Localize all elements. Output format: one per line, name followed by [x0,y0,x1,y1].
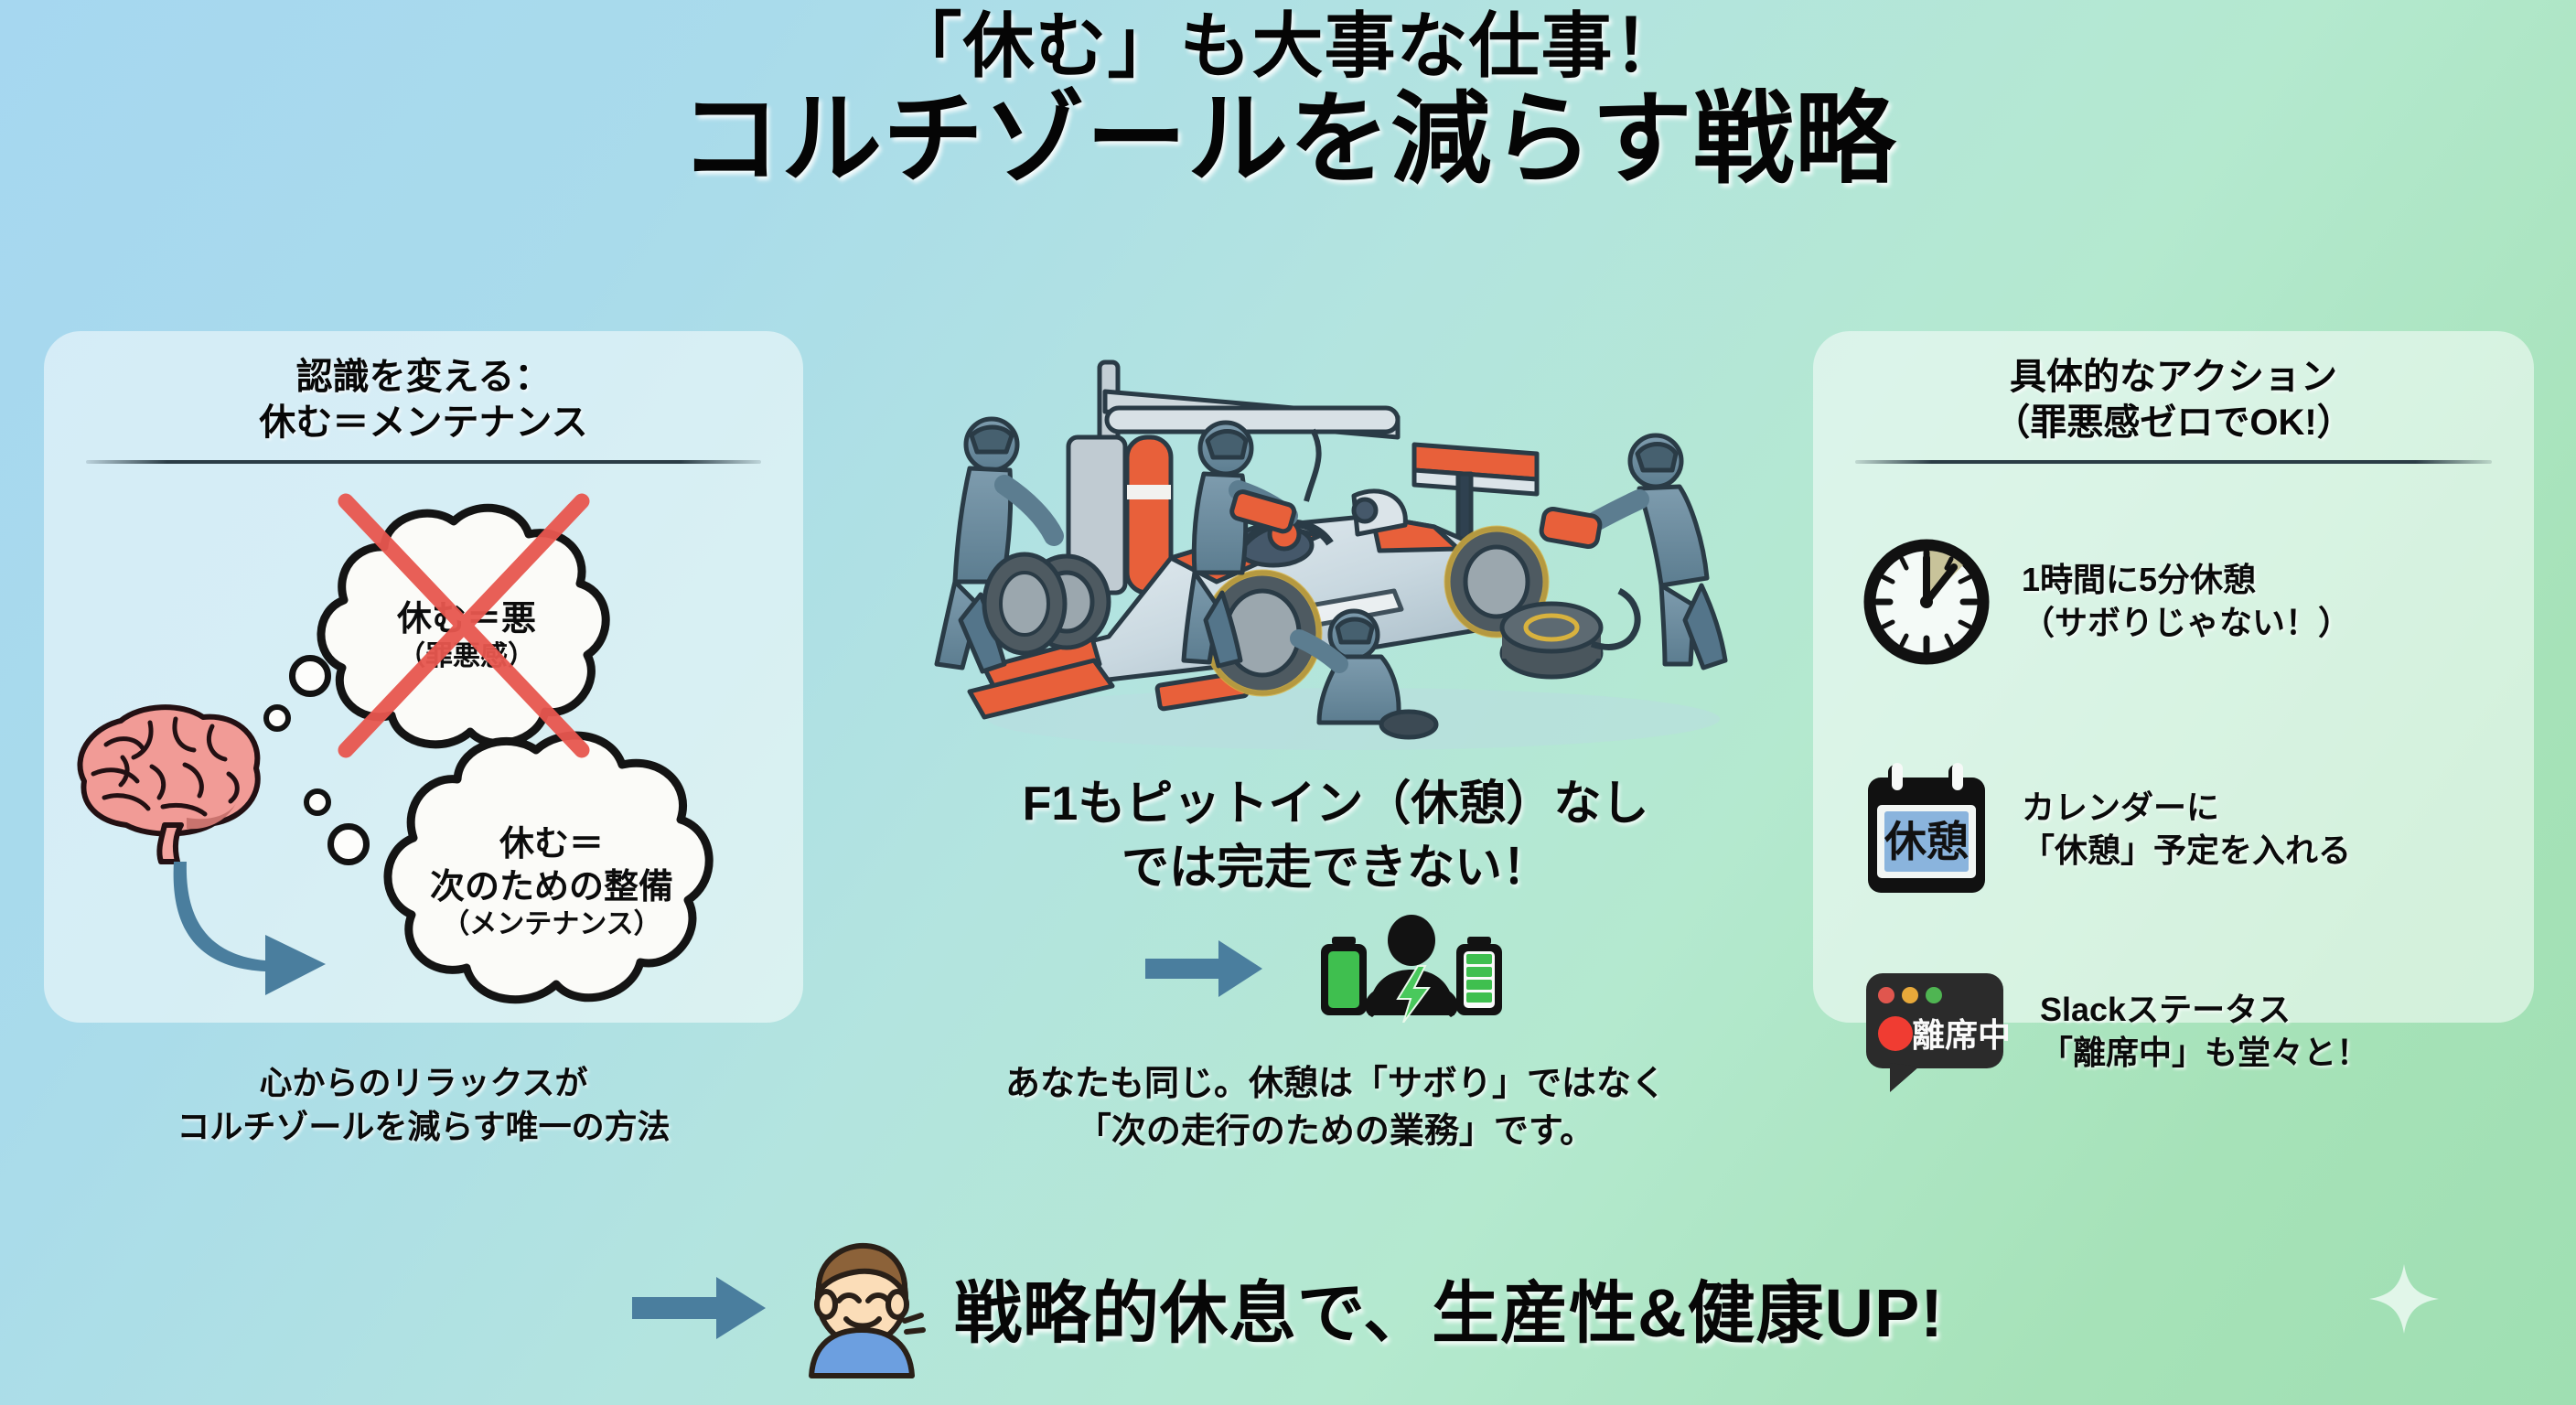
action-3-text: Slackステータス 「離席中」も堂々と！ [2040,989,2369,1075]
smiling-person-avatar [793,1237,930,1378]
page-title: 「休む」も大事な仕事！ コルチゾールを減らす戦略 [0,7,2576,195]
red-cross-mark-icon [274,476,659,787]
center-caption-line-1: あなたも同じ。休憩は「サボり」ではなく [832,1061,1839,1109]
action-item-hourly-break[interactable]: 1時間に5分休憩 （サボりじゃない！） [1862,538,2351,666]
right-panel-heading-line-2: （罪悪感ゼロでOK!） [1813,401,2534,446]
action-1-line-1: 1時間に5分休憩 [2022,559,2351,602]
right-panel-heading-line-1: 具体的なアクション [1813,355,2534,401]
center-icon-row [851,915,1820,1023]
right-panel-divider [1855,460,2492,464]
calendar-badge-label: 休憩 [1884,818,1969,865]
center-heading-line-2: では完走できない！ [851,837,1820,901]
center-heading-line-1: F1もピットイン（休憩）なし [851,773,1820,837]
action-1-text: 1時間に5分休憩 （サボりじゃない！） [2022,559,2351,645]
action-item-slack-status[interactable]: 離席中 Slackステータス 「離席中」も堂々と！ [1862,968,2369,1096]
left-panel-divider [86,460,761,464]
right-arrow-icon [632,1271,769,1345]
center-caption-line-2: 「次の走行のための業務」です。 [832,1109,1839,1156]
left-panel-footnote: 心からのリラックスが コルチゾールを減らす唯一の方法 [44,1061,803,1148]
curved-arrow-icon [165,851,338,1006]
clock-icon [1862,538,1991,666]
bubble-positive-line-2: 次のための整備 [430,868,673,906]
thought-dot-large-lower [327,823,370,865]
action-1-line-2: （サボりじゃない！） [2022,602,2351,645]
right-panel-heading: 具体的なアクション （罪悪感ゼロでOK!） [1813,331,2534,445]
action-item-calendar-block[interactable]: 休憩 カレンダーに 「休憩」予定を入れる [1862,761,2351,898]
action-3-line-1: Slackステータス [2040,989,2369,1032]
thought-dot-small-lower [304,788,331,816]
bottom-banner: 戦略的休息で、生産性&健康UP! [0,1237,2576,1378]
bubble-positive-line-1: 休む＝ [499,825,604,863]
bubble-positive-line-3: （メンテナンス） [430,908,673,942]
bubble-positive-text: 休む＝ 次のための整備 （メンテナンス） [430,823,673,941]
action-2-text: カレンダーに 「休憩」予定を入れる [2022,787,2351,873]
left-panel-heading-line-1: 認識を変える： [44,355,803,401]
person-battery-charge-icon [1297,915,1526,1023]
right-arrow-icon [1145,937,1264,1001]
left-footnote-line-2: コルチゾールを減らす唯一の方法 [44,1105,803,1149]
brain-icon [66,697,276,871]
calendar-icon: 休憩 [1862,761,1991,898]
action-2-line-2: 「休憩」予定を入れる [2022,830,2351,873]
action-3-line-2: 「離席中」も堂々と！ [2040,1032,2369,1075]
title-line-2: コルチゾールを減らす戦略 [0,86,2576,195]
right-panel-actions: 具体的なアクション （罪悪感ゼロでOK!） [1813,331,2534,1023]
left-panel-heading: 認識を変える： 休む＝メンテナンス [44,331,803,445]
center-heading: F1もピットイン（休憩）なし では完走できない！ [851,773,1820,900]
title-line-1: 「休む」も大事な仕事！ [0,7,2576,84]
left-panel-heading-line-2: 休む＝メンテナンス [44,401,803,446]
sparkle-icon [2367,1262,2441,1335]
f1-pit-stop-illustration [896,346,1784,767]
center-caption: あなたも同じ。休憩は「サボり」ではなく 「次の走行のための業務」です。 [832,1061,1839,1155]
slack-status-icon: 離席中 [1862,968,2009,1096]
action-2-line-1: カレンダーに [2022,787,2351,830]
left-footnote-line-1: 心からのリラックスが [44,1061,803,1105]
slack-badge-label: 離席中 [1912,1016,2009,1054]
bottom-banner-text: 戦略的休息で、生産性&健康UP! [954,1259,1944,1357]
